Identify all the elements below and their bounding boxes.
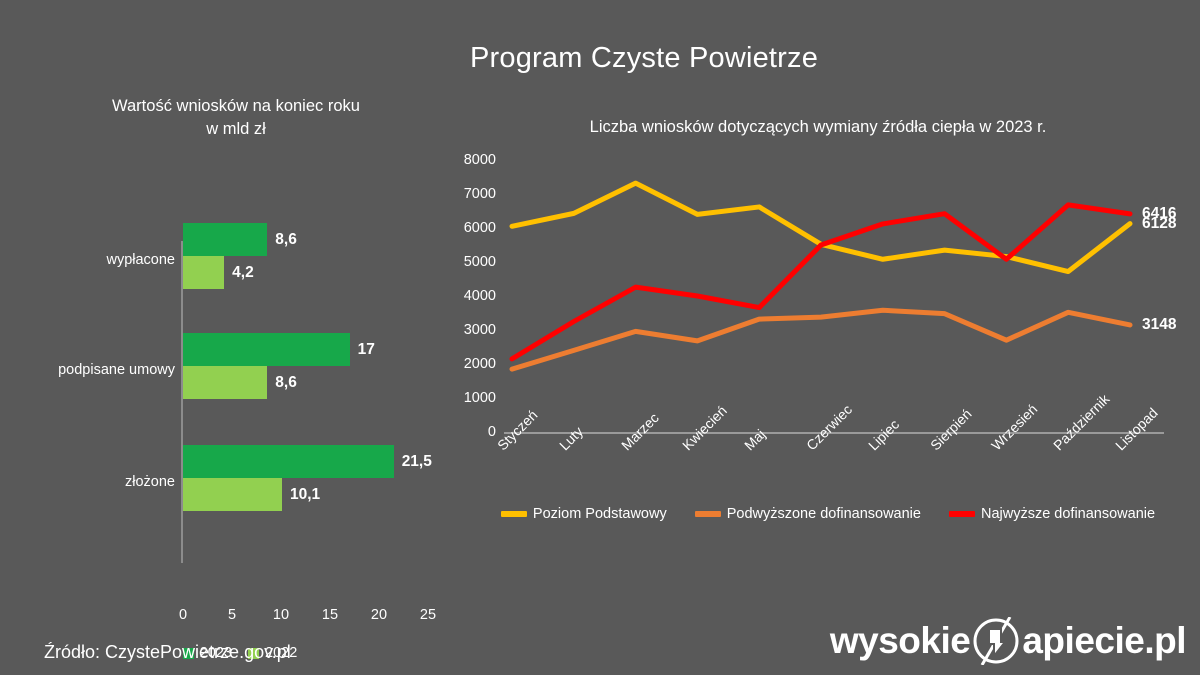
line-series [512, 310, 1130, 369]
bar-chart-title: Wartość wniosków na koniec roku w mld zł [26, 95, 446, 141]
line-chart-panel: Liczba wniosków dotyczących wymiany źród… [448, 118, 1200, 548]
bar-value-label: 8,6 [275, 374, 297, 392]
line-series [512, 183, 1130, 271]
page-title: Program Czyste Powietrze [470, 42, 818, 75]
bar-item[interactable]: 21,5 [183, 445, 394, 478]
bar-chart-x-axis: 0510152025 [20, 607, 460, 627]
bar-chart-panel: Wartość wniosków na koniec roku w mld zł… [20, 95, 460, 585]
logo-text-before: wysokie [830, 620, 970, 662]
bar-chart-plot: wypłacone8,64,2podpisane umowy178,6złożo… [20, 163, 460, 523]
bar-item[interactable]: 8,6 [183, 223, 267, 256]
bar-x-tick: 10 [273, 607, 289, 623]
line-y-tick: 1000 [464, 390, 496, 406]
bar-rect [183, 223, 267, 256]
line-y-tick: 6000 [464, 220, 496, 236]
line-y-tick: 2000 [464, 356, 496, 372]
bar-category-label: podpisane umowy [58, 362, 175, 378]
lightning-bolt-n-circle-icon [970, 617, 1022, 665]
line-legend-item[interactable]: Poziom Podstawowy [501, 506, 667, 522]
bar-rect [183, 366, 267, 399]
bar-category-label: wypłacone [106, 252, 175, 268]
line-chart-plot [504, 160, 1144, 432]
line-y-tick: 3000 [464, 322, 496, 338]
source-note: Źródło: CzystePowietrze.gov.pl [44, 642, 291, 663]
bar-rect [183, 478, 282, 511]
bar-rect [183, 333, 350, 366]
line-legend-item[interactable]: Najwyższe dofinansowanie [949, 506, 1155, 522]
brand-logo: wysokie apiecie.pl [830, 617, 1186, 665]
line-y-tick: 5000 [464, 254, 496, 270]
legend-label: Podwyższone dofinansowanie [727, 506, 921, 522]
line-legend-item[interactable]: Podwyższone dofinansowanie [695, 506, 921, 522]
legend-label: Najwyższe dofinansowanie [981, 506, 1155, 522]
line-chart-svg [504, 160, 1144, 432]
line-end-value-label: 6128 [1142, 215, 1176, 233]
line-y-tick: 7000 [464, 186, 496, 202]
bar-value-label: 17 [358, 341, 375, 359]
bar-x-tick: 20 [371, 607, 387, 623]
bar-item[interactable]: 8,6 [183, 366, 267, 399]
bar-chart-title-line1: Wartość wniosków na koniec roku [26, 95, 446, 118]
logo-mark-svg [970, 617, 1022, 665]
legend-swatch [695, 511, 721, 517]
bar-chart-title-line2: w mld zł [26, 118, 446, 141]
bar-item[interactable]: 4,2 [183, 256, 224, 289]
line-y-tick: 4000 [464, 288, 496, 304]
legend-label: Poziom Podstawowy [533, 506, 667, 522]
bar-x-tick: 5 [228, 607, 236, 623]
line-chart-legend: Poziom PodstawowyPodwyższone dofinansowa… [468, 506, 1188, 522]
line-end-value-label: 3148 [1142, 316, 1176, 334]
bar-x-tick: 15 [322, 607, 338, 623]
bar-value-label: 4,2 [232, 264, 254, 282]
line-series [512, 205, 1130, 359]
line-chart-y-axis: 010002000300040005000600070008000 [448, 160, 500, 432]
bar-value-label: 8,6 [275, 231, 297, 249]
bar-chart-value-axis [181, 241, 183, 563]
legend-swatch [949, 511, 975, 517]
line-chart-title: Liczba wniosków dotyczących wymiany źród… [448, 118, 1188, 137]
bar-category-label: złożone [125, 474, 175, 490]
bar-x-tick: 25 [420, 607, 436, 623]
line-y-tick: 0 [488, 424, 496, 440]
bar-rect [183, 445, 394, 478]
bar-item[interactable]: 17 [183, 333, 350, 366]
bar-value-label: 21,5 [402, 453, 432, 471]
legend-swatch [501, 511, 527, 517]
bar-rect [183, 256, 224, 289]
logo-text-after: apiecie.pl [1022, 620, 1186, 662]
bar-x-tick: 0 [179, 607, 187, 623]
line-y-tick: 8000 [464, 152, 496, 168]
bar-value-label: 10,1 [290, 486, 320, 504]
slide-canvas: Program Czyste Powietrze Wartość wnioskó… [0, 0, 1200, 675]
bar-item[interactable]: 10,1 [183, 478, 282, 511]
